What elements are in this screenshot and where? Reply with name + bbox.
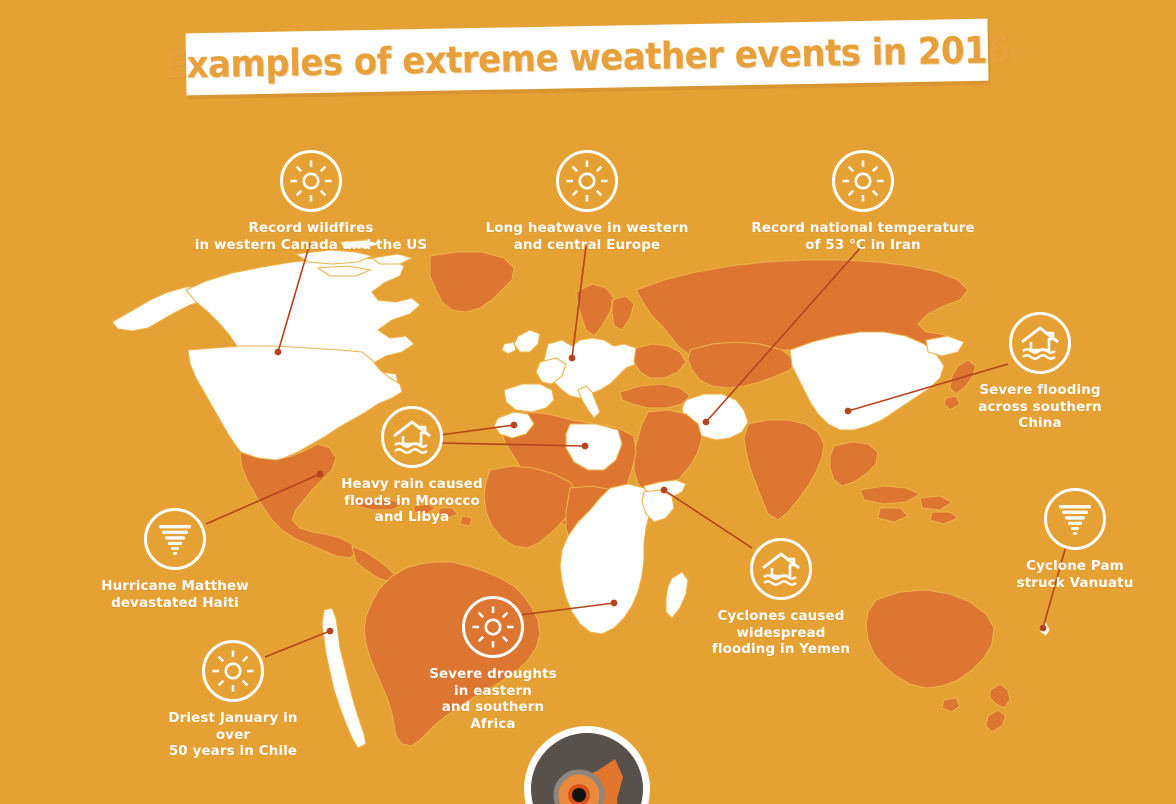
callout-label: Record national temperature of 53 °C in … [751, 221, 974, 254]
cyclone-icon-badge [1044, 488, 1106, 550]
callout-record-wildfires[interactable]: Record wildfires in western Canada and t… [186, 150, 436, 254]
region-southeast-asia [830, 442, 958, 524]
region-turkey-caucasus [620, 384, 690, 408]
callout-label: Hurricane Matthew devastated Haiti [101, 579, 249, 612]
leader-dot-africa [611, 600, 618, 607]
leader-dot-libya [582, 443, 589, 450]
callout-label: Record wildfires in western Canada and t… [195, 221, 427, 254]
callout-label: Severe flooding across southern China [955, 383, 1125, 433]
country-new-zealand [986, 684, 1010, 732]
cyclone-icon [1055, 499, 1095, 539]
leader-dot-iran [703, 419, 710, 426]
region-eastern-europe [634, 344, 686, 378]
infographic-canvas: Examples of extreme weather events in 20… [0, 0, 1176, 804]
country-greenland [430, 252, 514, 312]
logo-graphic [531, 733, 643, 804]
callout-record-temperature-iran[interactable]: Record national temperature of 53 °C in … [746, 150, 980, 254]
callout-label: Heavy rain caused floods in Morocco and … [341, 477, 483, 527]
leader-dot-chile [327, 628, 334, 635]
flood-house-icon [391, 418, 433, 456]
cyclone-icon [155, 519, 195, 559]
sun-icon [841, 159, 885, 203]
leader-dot-yemen [661, 487, 668, 494]
callout-driest-january-chile[interactable]: Driest January in over 50 years in Chile [152, 640, 314, 761]
flood-house-icon-badge [1009, 312, 1071, 374]
callout-label: Cyclones caused widespread flooding in Y… [712, 609, 850, 659]
sun-icon-badge [462, 596, 524, 658]
region-south-asia-india [744, 420, 824, 520]
sun-icon-badge [202, 640, 264, 702]
country-australia [866, 590, 994, 688]
leader-dot-wildfires [275, 349, 282, 356]
sun-icon-badge [832, 150, 894, 212]
leader-dot-vanuatu [1040, 625, 1047, 632]
leader-dot-haiti [317, 471, 324, 478]
callout-cyclones-flooding-yemen[interactable]: Cyclones caused widespread flooding in Y… [706, 538, 856, 659]
callout-label: Cyclone Pam struck Vanuatu [1017, 559, 1134, 592]
flood-house-icon [1019, 324, 1061, 362]
sun-icon [289, 159, 333, 203]
country-uk-ireland [502, 330, 540, 354]
callout-hurricane-matthew-haiti[interactable]: Hurricane Matthew devastated Haiti [100, 508, 250, 612]
sun-icon [211, 649, 255, 693]
sun-icon-badge [280, 150, 342, 212]
callout-label: Driest January in over 50 years in Chile [152, 711, 314, 761]
page-title: Examples of extreme weather events in 20… [163, 28, 1010, 87]
leader-dot-china [845, 408, 852, 415]
region-scandinavia [576, 284, 634, 336]
leader-dot-morocco [511, 422, 518, 429]
callout-long-heatwave-europe[interactable]: Long heatwave in western and central Eur… [480, 150, 694, 254]
country-madagascar [666, 572, 688, 618]
callout-severe-flooding-china[interactable]: Severe flooding across southern China [955, 312, 1125, 433]
flood-house-icon [760, 550, 802, 588]
callout-severe-droughts-africa[interactable]: Severe droughts in eastern and southern … [418, 596, 568, 733]
leader-dot-heatwave [569, 355, 576, 362]
country-tasmania [942, 698, 960, 712]
sun-icon-badge [556, 150, 618, 212]
callout-cyclone-pam-vanuatu[interactable]: Cyclone Pam struck Vanuatu [1000, 488, 1150, 592]
flood-house-icon-badge [750, 538, 812, 600]
country-spain-portugal [504, 384, 554, 412]
country-china [790, 332, 944, 430]
logo-artwork [531, 733, 643, 804]
sun-icon [471, 605, 515, 649]
callout-label: Severe droughts in eastern and southern … [418, 667, 568, 733]
central-america [352, 546, 396, 582]
sun-icon [565, 159, 609, 203]
cyclone-icon-badge [144, 508, 206, 570]
callout-label: Long heatwave in western and central Eur… [486, 221, 689, 254]
callout-heavy-rain-morocco-libya[interactable]: Heavy rain caused floods in Morocco and … [336, 406, 488, 527]
flood-house-icon-badge [381, 406, 443, 468]
